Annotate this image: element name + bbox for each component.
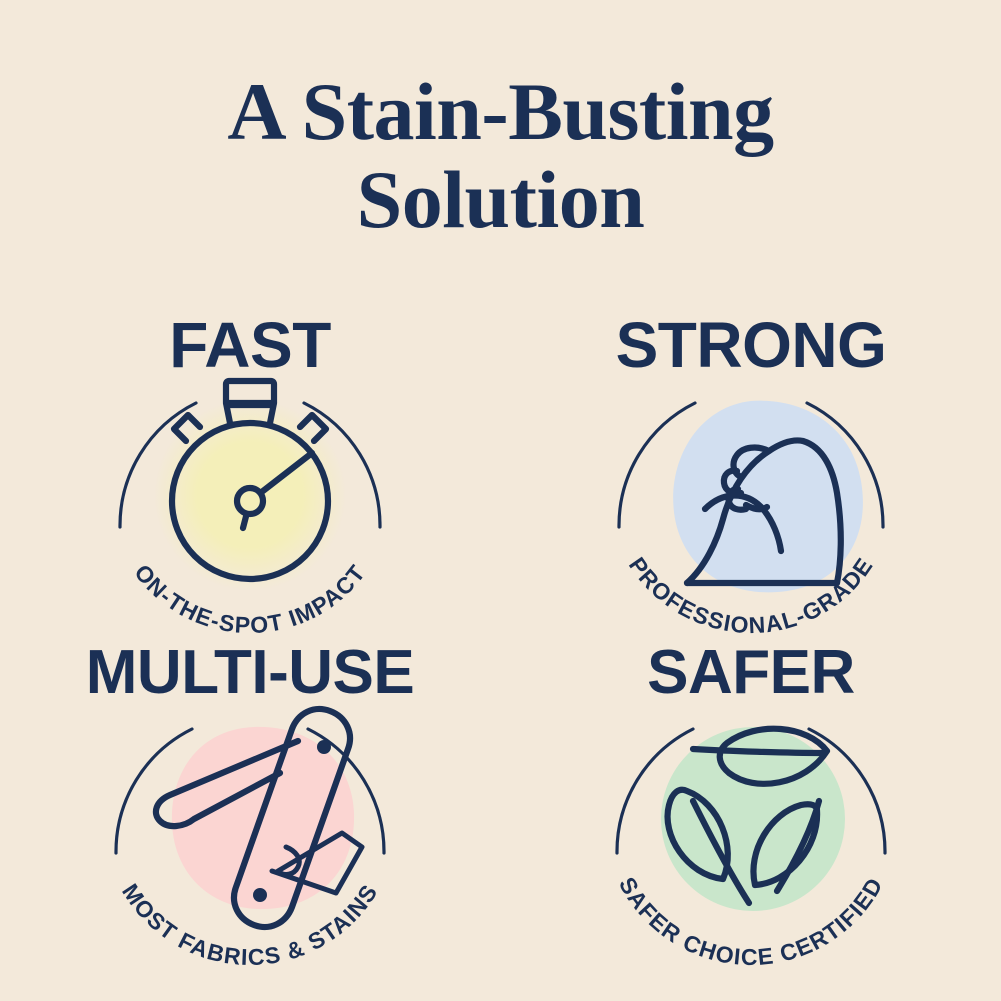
badge-strong-graphic: STRONG PROFESSIONAL-GRADE [541, 305, 961, 635]
badge-multi-use-heading: MULTI-USE [86, 638, 414, 707]
badge-strong-heading: STRONG [615, 309, 886, 381]
badge-fast-graphic: FAST ON- [40, 305, 460, 635]
badge-fast-heading: FAST [169, 309, 331, 381]
title-line-1: A Stain-Busting [0, 68, 1001, 156]
badge-multi-use-graphic: MULTI-USE MOST FABRICS & STAINS [40, 635, 460, 965]
badge-safer-graphic: SAFER SAFER CHOICE CERTI [541, 635, 961, 965]
badge-safer[interactable]: SAFER SAFER CHOICE CERTI [501, 635, 1001, 965]
page-title: A Stain-Busting Solution [0, 68, 1001, 244]
badge-fast[interactable]: FAST ON- [0, 305, 501, 635]
title-line-2: Solution [0, 156, 1001, 244]
badge-safer-heading: SAFER [647, 638, 855, 707]
benefit-badge-grid: FAST ON- [0, 305, 1001, 965]
badge-strong[interactable]: STRONG PROFESSIONAL-GRADE [501, 305, 1001, 635]
badge-multi-use[interactable]: MULTI-USE MOST FABRICS & STAINS [0, 635, 501, 965]
infographic-page: A Stain-Busting Solution FAST [0, 0, 1001, 1001]
